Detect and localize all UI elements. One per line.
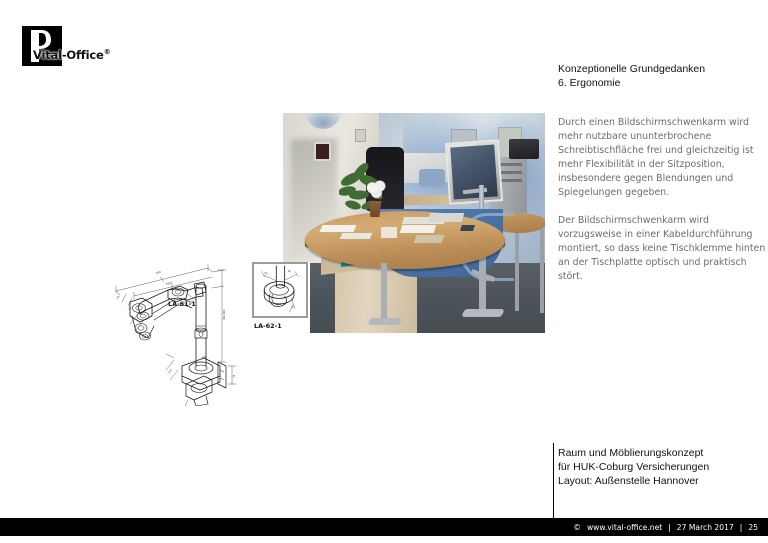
- inset-frame: 60 60 25: [252, 262, 308, 318]
- logo-wordmark-text: Vital-Office: [33, 48, 104, 62]
- photo-paper-2: [340, 233, 373, 239]
- photo-wall-outlet: [355, 129, 366, 142]
- project-line-1: Raum und Möblierungskonzept: [558, 446, 766, 460]
- logo-trademark: ®: [104, 48, 111, 56]
- photo-desk-phone: [460, 225, 475, 231]
- website-link[interactable]: www.vital-office.net: [587, 523, 662, 532]
- svg-text:110: 110: [167, 368, 173, 375]
- project-info-block: Raum und Möblierungskonzept für HUK-Cobu…: [558, 446, 766, 488]
- drawing-label-la-62-1: LA-62-1: [254, 322, 282, 330]
- photo-desk-document: [414, 235, 445, 243]
- photo-desk-foot-left: [368, 318, 403, 325]
- slide-heading: Konzeptionelle Grundgedanken 6. Ergonomi…: [558, 62, 766, 90]
- photo-printer: [509, 139, 539, 159]
- svg-text:60: 60: [264, 271, 268, 275]
- svg-text:ø 80: ø 80: [202, 356, 207, 359]
- svg-text:60: 60: [288, 269, 292, 273]
- footer-vertical-divider: [553, 443, 554, 519]
- heading-line-1: Konzeptionelle Grundgedanken: [558, 62, 766, 76]
- svg-text:75: 75: [232, 374, 236, 378]
- photo-side-table-leg-2: [540, 229, 544, 313]
- drawing-label-la-61-1: LA-61-1: [168, 300, 196, 308]
- page-number: 25: [748, 523, 758, 532]
- footer-bar: © www.vital-office.net | 27 March 2017 |…: [0, 518, 768, 536]
- footer-date: 27 March 2017: [677, 523, 734, 532]
- heading-line-2: 6. Ergonomie: [558, 76, 766, 90]
- photo-monitor: [445, 139, 503, 205]
- project-line-2: für HUK-Coburg Versicherungen: [558, 460, 766, 474]
- copyright-symbol: ©: [573, 523, 581, 532]
- footer-separator-2: |: [740, 523, 743, 532]
- photo-desk-foot-right: [461, 309, 504, 317]
- body-paragraph-2: Der Bildschirmschwenkarm wird vorzugswei…: [558, 214, 766, 284]
- drawing-inset-la-62-1: 60 60 25 LA-62-1: [252, 262, 310, 334]
- project-line-3: Layout: Außenstelle Hannover: [558, 474, 766, 488]
- photo-desk-leg-left: [381, 263, 387, 323]
- office-workspace-photo: [283, 113, 545, 333]
- footer-bar-content: © www.vital-office.net | 27 March 2017 |…: [573, 518, 758, 536]
- photo-desk-box: [381, 227, 397, 238]
- footer-separator-1: |: [668, 523, 671, 532]
- body-text-column: Durch einen Bildschirmschwenkarm wird me…: [558, 116, 766, 297]
- photo-paper-1: [319, 225, 356, 232]
- body-paragraph-1: Durch einen Bildschirmschwenkarm wird me…: [558, 116, 766, 201]
- photo-paper-3: [400, 225, 437, 233]
- svg-text:240: 240: [155, 270, 161, 275]
- svg-text:420-600: 420-600: [222, 309, 226, 320]
- photo-wall-switch: [314, 142, 331, 161]
- photo-flowers: [365, 179, 389, 201]
- photo-keyboard: [428, 213, 465, 222]
- cable-pass-through-detail-drawing: 60 60 25: [254, 264, 306, 316]
- vital-office-logo: Vital-Office®: [22, 26, 70, 66]
- photo-back-clutter-2: [419, 169, 445, 187]
- svg-text:180: 180: [165, 281, 171, 286]
- logo-wordmark: Vital-Office®: [33, 48, 110, 62]
- photo-side-table-leg-1: [515, 231, 519, 311]
